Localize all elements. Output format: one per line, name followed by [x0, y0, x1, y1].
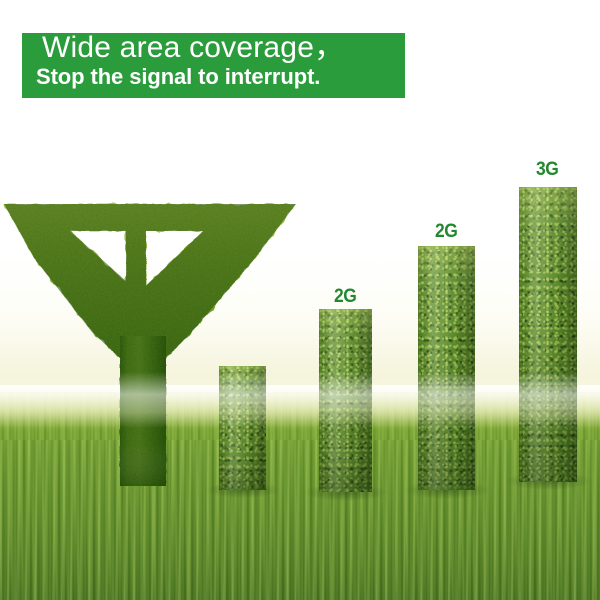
headline-banner: Wide area coverage， Stop the signal to i…: [22, 33, 405, 98]
signal-bar-3: [418, 246, 475, 490]
signal-bar-1: [219, 366, 266, 490]
bar-label-4: 3G: [536, 160, 558, 179]
bar-vertical-shading: [418, 246, 475, 490]
bar-vertical-shading: [219, 366, 266, 490]
bar-cylinder-shading: [418, 246, 475, 490]
bar-vertical-shading: [519, 187, 577, 482]
poster-canvas: 2G 2G 3G Wide area coverage， Stop the si…: [0, 0, 600, 600]
bar-cylinder-shading: [319, 309, 372, 492]
bar-vertical-shading: [319, 309, 372, 492]
bar-leaf-texture: [519, 187, 577, 482]
bar-leaf-texture: [418, 246, 475, 490]
signal-bar-2: [319, 309, 372, 492]
bar-label-3: 2G: [435, 222, 457, 241]
bar-leaf-texture: [319, 309, 372, 492]
signal-bar-4: [519, 187, 577, 482]
bar-label-2: 2G: [334, 287, 356, 306]
bar-cylinder-shading: [219, 366, 266, 490]
banner-subtitle: Stop the signal to interrupt.: [36, 62, 320, 92]
bar-leaf-texture: [219, 366, 266, 490]
bar-cylinder-shading: [519, 187, 577, 482]
